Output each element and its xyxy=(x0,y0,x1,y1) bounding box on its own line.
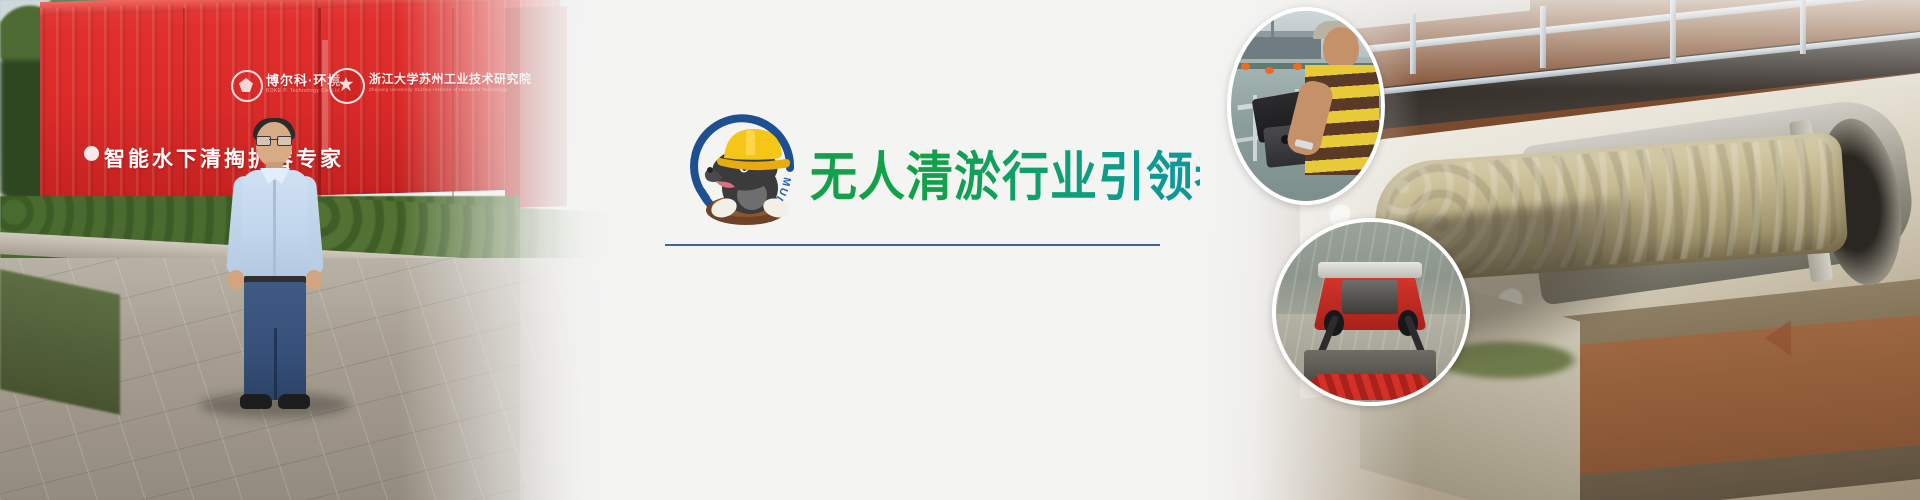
title-divider xyxy=(665,244,1160,246)
mud-mole-logo-svg: MUD MOLE xyxy=(680,96,812,228)
hero-banner: 博尔科·环境 BOKE P. Technology Co.,Ltd. 浙江大学苏… xyxy=(0,0,1920,500)
grass-verge xyxy=(0,269,120,415)
person-right-hand xyxy=(306,270,322,290)
page-title: 无人清淤行业引领者 xyxy=(810,145,1242,210)
eyeglasses-icon xyxy=(256,136,292,144)
person-right-shoe xyxy=(278,394,310,409)
person-left-shoe xyxy=(240,394,272,409)
inset2-auger xyxy=(1310,374,1430,400)
inset1-buoy-3 xyxy=(1293,63,1302,70)
inset1-tower xyxy=(1271,17,1274,37)
boke-mark-icon xyxy=(231,70,263,102)
inset2-robot-core xyxy=(1342,280,1398,314)
slogan-bullet-icon xyxy=(84,146,99,161)
inset1-buoy-1 xyxy=(1241,63,1250,70)
person-shirt-placket xyxy=(273,180,276,276)
mud-mole-logo: MUD MOLE xyxy=(680,96,812,228)
flow-arrow-icon xyxy=(1765,320,1791,356)
university-seal-icon xyxy=(329,68,365,104)
inset2-pontoon xyxy=(1282,238,1306,250)
left-photo-fade-mask-2 xyxy=(520,0,640,500)
person-leg-seam xyxy=(274,328,277,400)
inset-photo-operator xyxy=(1227,7,1385,205)
inset1-operator-head xyxy=(1323,27,1359,69)
person-left-hand xyxy=(228,270,244,290)
inset2-robot-top-plate xyxy=(1318,262,1422,278)
inset1-operator-figure xyxy=(1305,21,1379,201)
container-panel-seam-1 xyxy=(183,8,185,203)
left-photo: 博尔科·环境 BOKE P. Technology Co.,Ltd. 浙江大学苏… xyxy=(0,0,640,500)
center-content: MUD MOLE xyxy=(640,0,1200,500)
inset1-buoy-2 xyxy=(1265,67,1274,74)
engineer-figure xyxy=(222,118,332,408)
inset-photo-dredging-robot xyxy=(1272,218,1470,406)
